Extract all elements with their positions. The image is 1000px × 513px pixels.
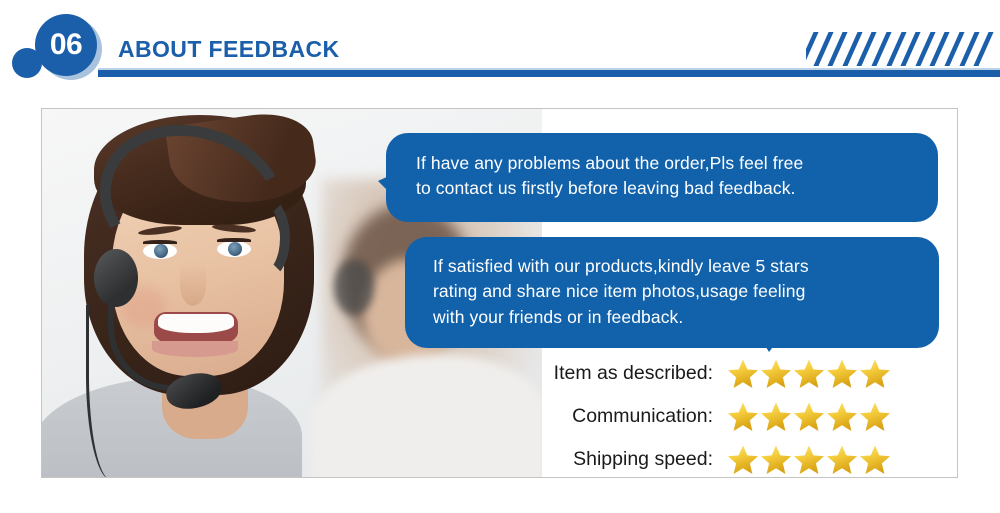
star-icon[interactable] [859, 358, 891, 389]
rating-row: Item as described: [531, 353, 951, 394]
star-icon[interactable] [727, 444, 759, 475]
star-icon[interactable] [727, 401, 759, 432]
star-icon[interactable] [760, 401, 792, 432]
speech-bubble-order-problems: If have any problems about the order,Pls… [386, 133, 938, 222]
star-icon[interactable] [826, 401, 858, 432]
rating-row: Shipping speed: [531, 439, 951, 478]
star-icon[interactable] [859, 444, 891, 475]
ratings-list: Item as described:Communication:Shipping… [531, 353, 951, 478]
speech-bubble-five-stars-text: If satisfied with our products,kindly le… [433, 254, 917, 330]
diagonal-stripes-decoration [806, 32, 998, 66]
star-icon[interactable] [727, 358, 759, 389]
background-person-headset [334, 259, 374, 315]
headset-headband-right [238, 195, 290, 281]
section-header: 06 ABOUT FEEDBACK [0, 0, 1000, 92]
rating-label: Item as described: [531, 362, 727, 385]
star-rating[interactable] [727, 444, 891, 475]
star-icon[interactable] [760, 358, 792, 389]
section-number-badge: 06 [35, 14, 97, 76]
speech-bubble-order-text: If have any problems about the order,Pls… [416, 151, 914, 202]
star-icon[interactable] [760, 444, 792, 475]
star-rating[interactable] [727, 401, 891, 432]
speech-bubble-tail-stars [753, 326, 789, 352]
rating-row: Communication: [531, 396, 951, 437]
section-number-label: 06 [50, 28, 82, 62]
feedback-panel: If have any problems about the order,Pls… [41, 108, 958, 478]
speech-bubble-five-stars: If satisfied with our products,kindly le… [405, 237, 939, 348]
star-icon[interactable] [826, 444, 858, 475]
star-icon[interactable] [859, 401, 891, 432]
divider-thick [98, 70, 1000, 77]
star-rating[interactable] [727, 358, 891, 389]
star-icon[interactable] [826, 358, 858, 389]
star-icon[interactable] [793, 444, 825, 475]
star-icon[interactable] [793, 358, 825, 389]
rating-label: Shipping speed: [531, 448, 727, 471]
star-icon[interactable] [793, 401, 825, 432]
page-title: ABOUT FEEDBACK [118, 36, 340, 63]
rating-label: Communication: [531, 405, 727, 428]
